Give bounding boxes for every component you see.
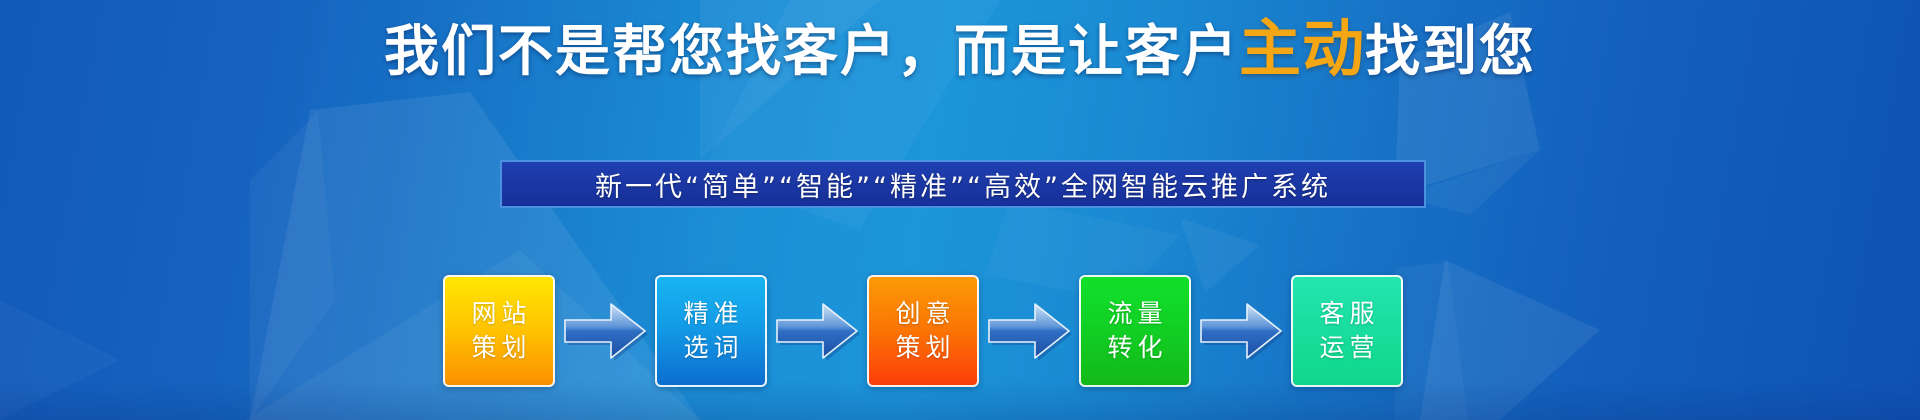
flow-step-label-line1: 网站 (466, 297, 531, 331)
promo-banner: 我们不是帮您找客户，而是让客户主动找到您 新一代“简单”“智能”“精准”“高效”… (0, 0, 1920, 420)
flow-step-creative-planning[interactable]: 创意 策划 (867, 275, 979, 387)
flow-arrow-4 (1191, 296, 1291, 366)
headline-highlight: 主动 (1239, 12, 1365, 85)
flow-step-label-line2: 选词 (678, 331, 743, 365)
flow-step-label-line2: 策划 (466, 331, 531, 365)
subtitle-text: 新一代“简单”“智能”“精准”“高效”全网智能云推广系统 (595, 165, 1331, 204)
flow-arrow-3 (979, 296, 1079, 366)
flow-step-label-line2: 转化 (1102, 331, 1167, 365)
flow-step-customer-service[interactable]: 客服 运营 (1291, 275, 1403, 387)
flow-step-label-line2: 策划 (890, 331, 955, 365)
banner-headline: 我们不是帮您找客户，而是让客户主动找到您 (0, 18, 1920, 82)
flow-step-label-line2: 运营 (1314, 331, 1379, 365)
flow-step-label-line1: 精准 (678, 297, 743, 331)
headline-part2: 找到您 (1365, 19, 1536, 83)
flow-step-traffic-conversion[interactable]: 流量 转化 (1079, 275, 1191, 387)
flow-step-label-line1: 创意 (890, 297, 955, 331)
flow-step-label-line1: 流量 (1102, 297, 1167, 331)
flow-step-label-line1: 客服 (1314, 297, 1379, 331)
process-flow: 网站 策划 精准 选词 (443, 274, 1483, 388)
flow-arrow-1 (555, 296, 655, 366)
flow-arrow-2 (767, 296, 867, 366)
subtitle-bar: 新一代“简单”“智能”“精准”“高效”全网智能云推广系统 (500, 160, 1426, 208)
flow-step-precise-keyword[interactable]: 精准 选词 (655, 275, 767, 387)
flow-step-website-planning[interactable]: 网站 策划 (443, 275, 555, 387)
headline-part1: 我们不是帮您找客户，而是让客户 (384, 19, 1239, 83)
